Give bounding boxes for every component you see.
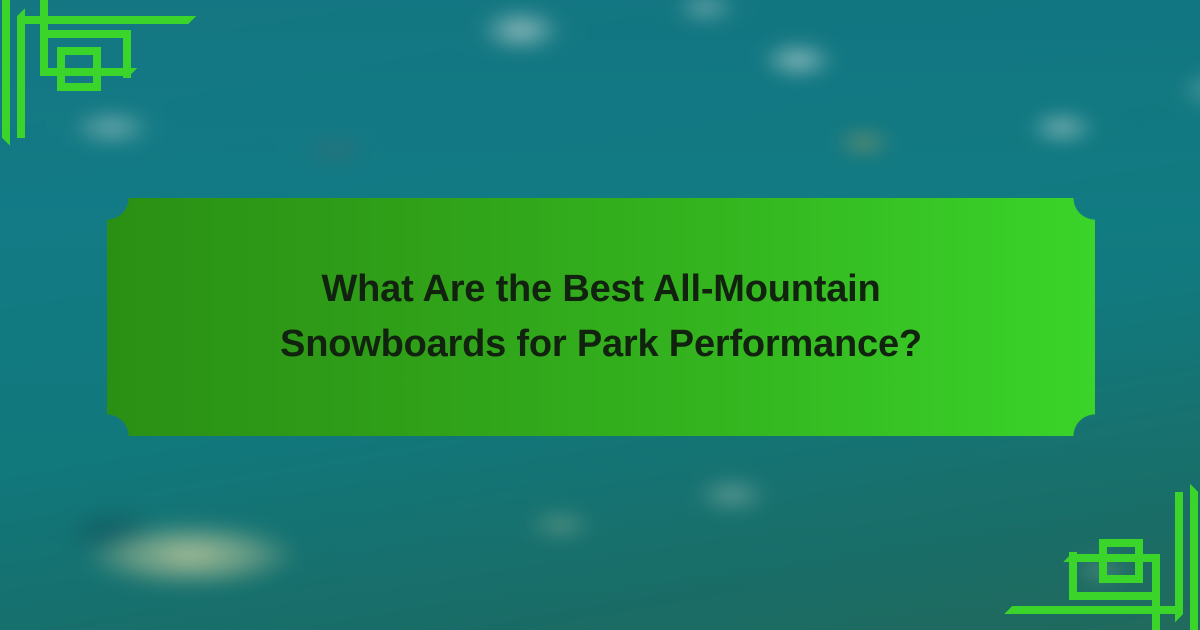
page-title: What Are the Best All-Mountain Snowboard… [271, 262, 931, 373]
title-banner: What Are the Best All-Mountain Snowboard… [107, 198, 1095, 436]
corner-bracket-bottom-right-icon [1000, 430, 1200, 630]
corner-bracket-top-left-icon [0, 0, 200, 200]
hero-card: What Are the Best All-Mountain Snowboard… [0, 0, 1200, 630]
